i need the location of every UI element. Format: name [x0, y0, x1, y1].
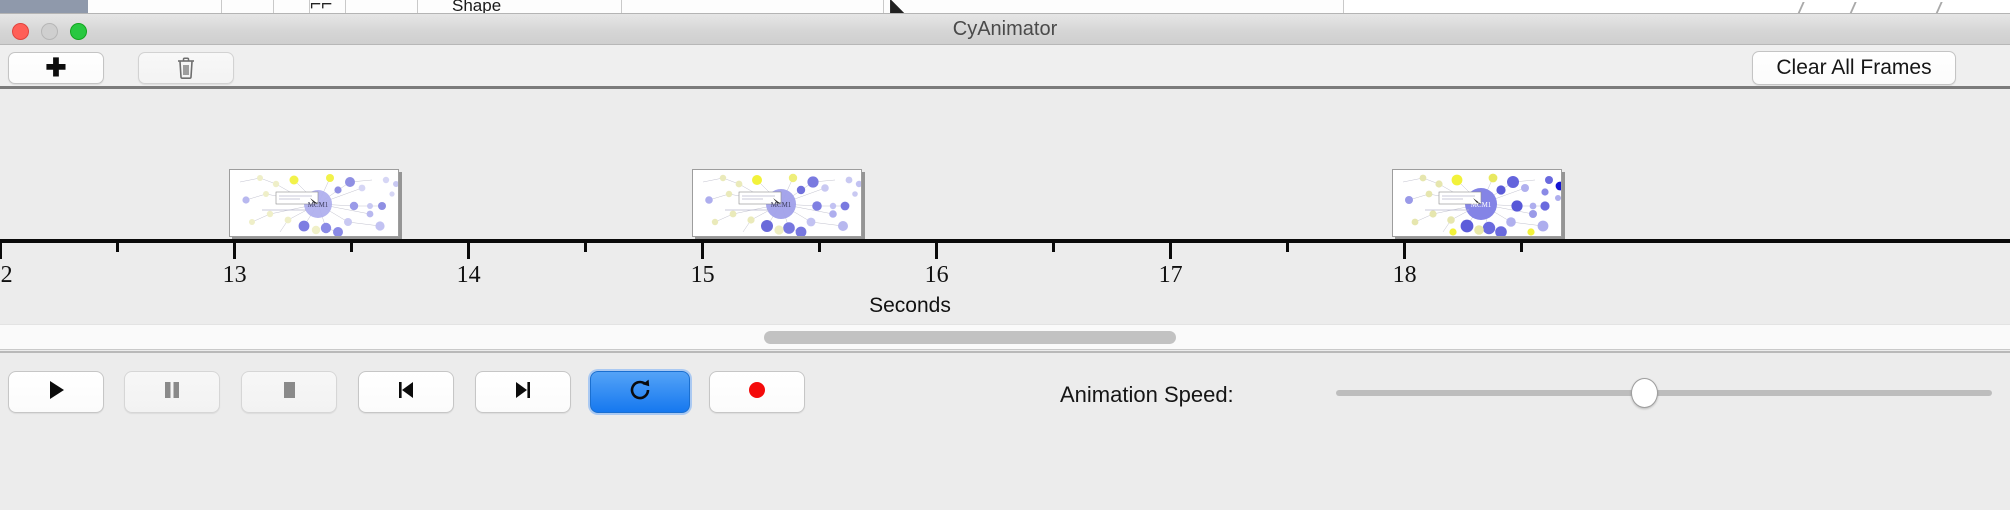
axis-tick-minor: [818, 243, 821, 252]
record-button[interactable]: [709, 371, 805, 413]
background-cell: [884, 0, 1344, 14]
delete-frame-button[interactable]: [138, 52, 234, 84]
axis-tick-label: 13: [223, 262, 247, 289]
frame-thumbnail[interactable]: MCM1: [1392, 169, 1562, 237]
frame-network-canvas: MCM1: [230, 170, 398, 236]
timeline-panel[interactable]: MCM1: [0, 92, 2010, 324]
axis-tick-label: 17: [1159, 262, 1183, 289]
axis-title: Seconds: [0, 294, 1820, 318]
axis-tick-label: 12: [0, 262, 13, 289]
stop-icon: [279, 379, 299, 406]
timeline-axis: [0, 239, 2010, 243]
pause-button[interactable]: [124, 371, 220, 413]
axis-tick-label: 14: [457, 262, 481, 289]
axis-tick-major: [1403, 243, 1406, 259]
skip-backward-icon: [395, 379, 417, 406]
stop-button[interactable]: [241, 371, 337, 413]
axis-tick-minor: [1052, 243, 1055, 252]
background-glyph: ◣: [890, 0, 905, 14]
plus-icon: ✚: [46, 56, 67, 81]
playback-control-bar: Animation Speed:: [0, 351, 2010, 510]
axis-tick-major: [0, 243, 2, 259]
frame-thumbnail[interactable]: MCM1: [229, 169, 399, 237]
cyanimator-window: ⌐⌐ Shape ◣ CyAnimator ✚: [0, 0, 2010, 510]
background-cell: [222, 0, 274, 14]
background-cell: [274, 0, 310, 14]
background-cell: [346, 0, 418, 14]
network-graph-svg: MCM1: [230, 170, 399, 237]
background-cell: [418, 0, 622, 14]
title-bar: CyAnimator: [0, 14, 2010, 45]
background-row-selected: [0, 0, 88, 14]
axis-tick-major: [233, 243, 236, 259]
axis-tick-minor: [116, 243, 119, 252]
pause-icon: [162, 379, 182, 406]
play-icon: [45, 379, 67, 406]
loop-button[interactable]: [590, 371, 690, 413]
frame-toolbar: ✚ Clear All Frames: [0, 45, 2010, 89]
svg-text:MCM1: MCM1: [771, 201, 792, 209]
axis-tick-major: [467, 243, 470, 259]
timeline-scrollbar-thumb[interactable]: [764, 331, 1176, 344]
network-graph-svg: MCM1: [693, 170, 862, 237]
animation-speed-slider[interactable]: [1336, 390, 1992, 396]
background-cell: [622, 0, 884, 14]
window-title: CyAnimator: [0, 14, 2010, 45]
background-column-label-shape: Shape: [452, 0, 501, 14]
axis-tick-major: [701, 243, 704, 259]
animation-speed-slider-thumb[interactable]: [1631, 378, 1658, 408]
record-icon: [746, 379, 768, 406]
clear-all-frames-button[interactable]: Clear All Frames: [1752, 51, 1956, 85]
axis-tick-label: 15: [691, 262, 715, 289]
skip-forward-icon: [512, 379, 534, 406]
axis-tick-minor: [584, 243, 587, 252]
clear-all-frames-label: Clear All Frames: [1776, 56, 1931, 80]
svg-text:MCM1: MCM1: [1471, 201, 1492, 209]
axis-tick-minor: [1520, 243, 1523, 252]
play-button[interactable]: [8, 371, 104, 413]
frame-network-canvas: MCM1: [693, 170, 861, 236]
background-glyph: ⌐⌐: [310, 0, 332, 14]
frame-network-canvas: MCM1: [1393, 170, 1561, 236]
axis-tick-label: 18: [1393, 262, 1417, 289]
skip-to-end-button[interactable]: [475, 371, 571, 413]
network-graph-svg: MCM1: [1393, 170, 1562, 237]
axis-tick-minor: [1286, 243, 1289, 252]
background-cell: [88, 0, 222, 14]
axis-tick-major: [1169, 243, 1172, 259]
timeline-scrollbar-track[interactable]: [0, 324, 2010, 350]
svg-text:MCM1: MCM1: [308, 201, 329, 209]
loop-icon: [628, 378, 652, 407]
axis-tick-minor: [350, 243, 353, 252]
animation-speed-label: Animation Speed:: [1060, 382, 1234, 408]
skip-to-start-button[interactable]: [358, 371, 454, 413]
axis-tick-major: [935, 243, 938, 259]
background-window-strip: ⌐⌐ Shape ◣: [0, 0, 2010, 14]
frame-thumbnail[interactable]: MCM1: [692, 169, 862, 237]
trash-icon: [176, 56, 196, 80]
add-frame-button[interactable]: ✚: [8, 52, 104, 84]
axis-tick-label: 16: [925, 262, 949, 289]
